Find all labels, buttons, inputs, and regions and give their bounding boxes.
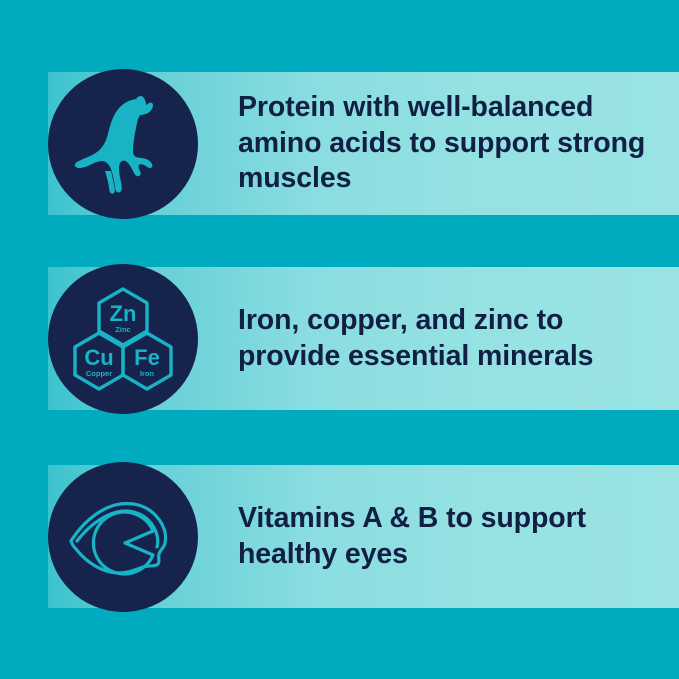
- dog-icon-badge: [48, 69, 198, 219]
- benefit-text: Iron, copper, and zinc to provide essent…: [238, 267, 658, 410]
- benefits-infographic: Protein with well-balanced amino acids t…: [0, 0, 679, 679]
- element-symbol-cu: Cu: [84, 345, 113, 370]
- benefit-row: Zn Zinc Cu Copper Fe Iron Iron, copper, …: [0, 267, 679, 410]
- minerals-hexagons-icon-badge: Zn Zinc Cu Copper Fe Iron: [48, 264, 198, 414]
- dog-icon: [64, 85, 182, 203]
- minerals-hexagons-icon: Zn Zinc Cu Copper Fe Iron: [67, 283, 179, 395]
- element-symbol-fe: Fe: [134, 345, 160, 370]
- benefit-text: Protein with well-balanced amino acids t…: [238, 72, 658, 215]
- element-name-iron: Iron: [140, 369, 155, 378]
- element-symbol-zn: Zn: [110, 301, 137, 326]
- eye-icon-badge: [48, 462, 198, 612]
- benefit-row: Protein with well-balanced amino acids t…: [0, 72, 679, 215]
- element-name-zinc: Zinc: [115, 325, 130, 334]
- benefit-row: Vitamins A & B to support healthy eyes: [0, 465, 679, 608]
- element-name-copper: Copper: [86, 369, 112, 378]
- eye-icon: [65, 479, 181, 595]
- benefit-text: Vitamins A & B to support healthy eyes: [238, 465, 658, 608]
